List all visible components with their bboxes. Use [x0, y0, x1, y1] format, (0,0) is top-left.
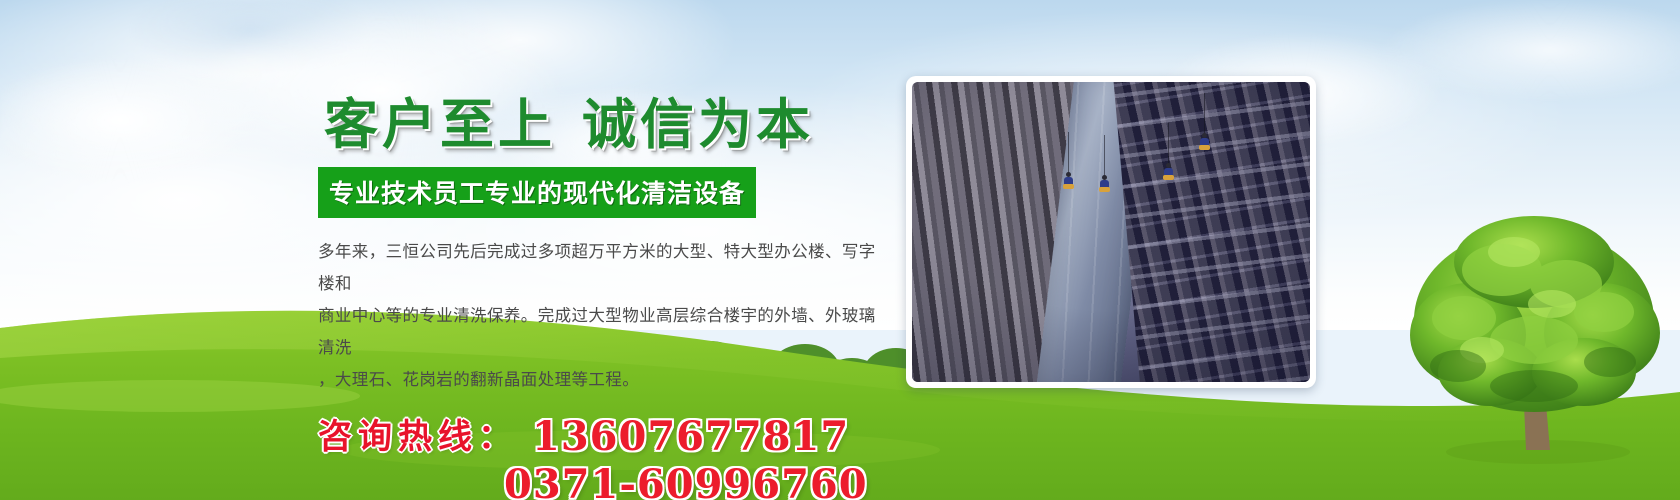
hotline-label: 咨询热线：	[318, 417, 518, 457]
description-line-3: ，大理石、花岗岩的翻新晶面处理等工程。	[318, 364, 881, 396]
description-line-2: 商业中心等的专业清洗保养。完成过大型物业高层综合楼宇的外墙、外玻璃清洗	[318, 300, 881, 364]
hotline-block: 咨询热线：13607677817 0371-60996760	[318, 417, 898, 500]
description-text: 多年来，三恒公司先后完成过多项超万平方米的大型、特大型办公楼、写字楼和 商业中心…	[318, 236, 881, 397]
hotline-mobile-number[interactable]: 13607677817	[532, 413, 849, 460]
hotline-landline-number[interactable]: 0371-60996760	[504, 461, 868, 500]
subheadline-bar: 专业技术员工专业的现代化清洁设备	[318, 167, 756, 218]
tree-illustration	[1398, 200, 1668, 470]
headline-part-1: 客户至上	[324, 92, 556, 156]
copy-block: 客户至上诚信为本 专业技术员工专业的现代化清洁设备 多年来，三恒公司先后完成过多…	[318, 96, 898, 500]
photo-vignette	[912, 82, 1310, 382]
hotline-primary-line: 咨询热线：13607677817	[318, 417, 898, 457]
building-photo-card[interactable]	[906, 76, 1316, 388]
page-title: 客户至上诚信为本	[324, 96, 898, 153]
building-photo	[912, 82, 1310, 382]
description-line-1: 多年来，三恒公司先后完成过多项超万平方米的大型、特大型办公楼、写字楼和	[318, 236, 881, 300]
hotline-secondary-line: 0371-60996760	[504, 465, 898, 500]
headline-part-2: 诚信为本	[582, 92, 814, 156]
promo-banner: 客户至上诚信为本 专业技术员工专业的现代化清洁设备 多年来，三恒公司先后完成过多…	[0, 0, 1680, 500]
